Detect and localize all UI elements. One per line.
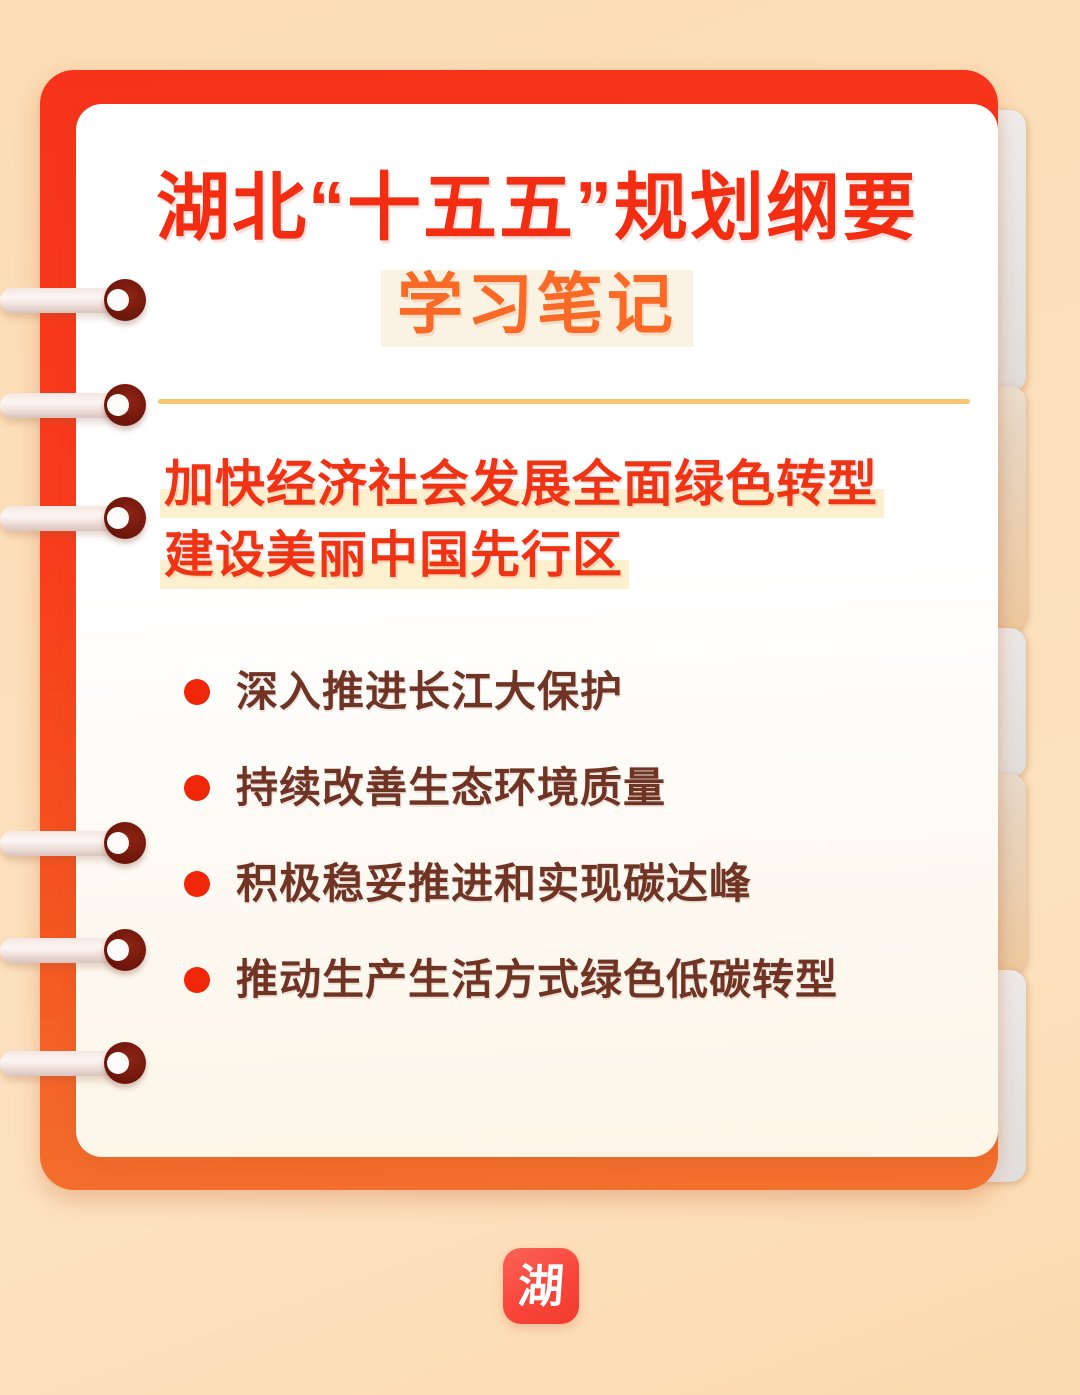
footer-logo: 湖 — [503, 1248, 579, 1324]
list-item-label: 积极稳妥推进和实现碳达峰 — [236, 859, 752, 909]
poster-canvas: 湖北“十五五”规划纲要 学习笔记 加快经济社会发展全面绿色转型 建设美丽中国先行… — [0, 0, 1080, 1395]
bullet-dot-icon — [184, 679, 210, 705]
bullet-list: 深入推进长江大保护 持续改善生态环境质量 积极稳妥推进和实现碳达峰 推动生产生活… — [184, 644, 994, 1028]
subtitle-wrap: 学习笔记 — [76, 265, 998, 347]
list-item: 推动生产生活方式绿色低碳转型 — [184, 932, 994, 1028]
bullet-dot-icon — [184, 775, 210, 801]
list-item-label: 持续改善生态环境质量 — [236, 763, 666, 813]
hubei-logo-icon: 湖 — [516, 1263, 565, 1309]
bullet-dot-icon — [184, 967, 210, 993]
section-heading: 加快经济社会发展全面绿色转型 建设美丽中国先行区 — [160, 449, 960, 591]
page-subtitle: 学习笔记 — [381, 265, 693, 347]
list-item: 持续改善生态环境质量 — [184, 740, 994, 836]
bullet-dot-icon — [184, 871, 210, 897]
section-heading-line-2: 建设美丽中国先行区 — [160, 520, 629, 591]
title-block: 湖北“十五五”规划纲要 学习笔记 — [76, 164, 998, 347]
note-card: 湖北“十五五”规划纲要 学习笔记 加快经济社会发展全面绿色转型 建设美丽中国先行… — [76, 104, 998, 1157]
list-item: 积极稳妥推进和实现碳达峰 — [184, 836, 994, 932]
page-title: 湖北“十五五”规划纲要 — [76, 164, 998, 251]
divider — [158, 399, 970, 404]
list-item: 深入推进长江大保护 — [184, 644, 994, 740]
section-heading-line-1: 加快经济社会发展全面绿色转型 — [160, 449, 884, 520]
list-item-label: 深入推进长江大保护 — [236, 667, 623, 717]
list-item-label: 推动生产生活方式绿色低碳转型 — [236, 955, 838, 1005]
